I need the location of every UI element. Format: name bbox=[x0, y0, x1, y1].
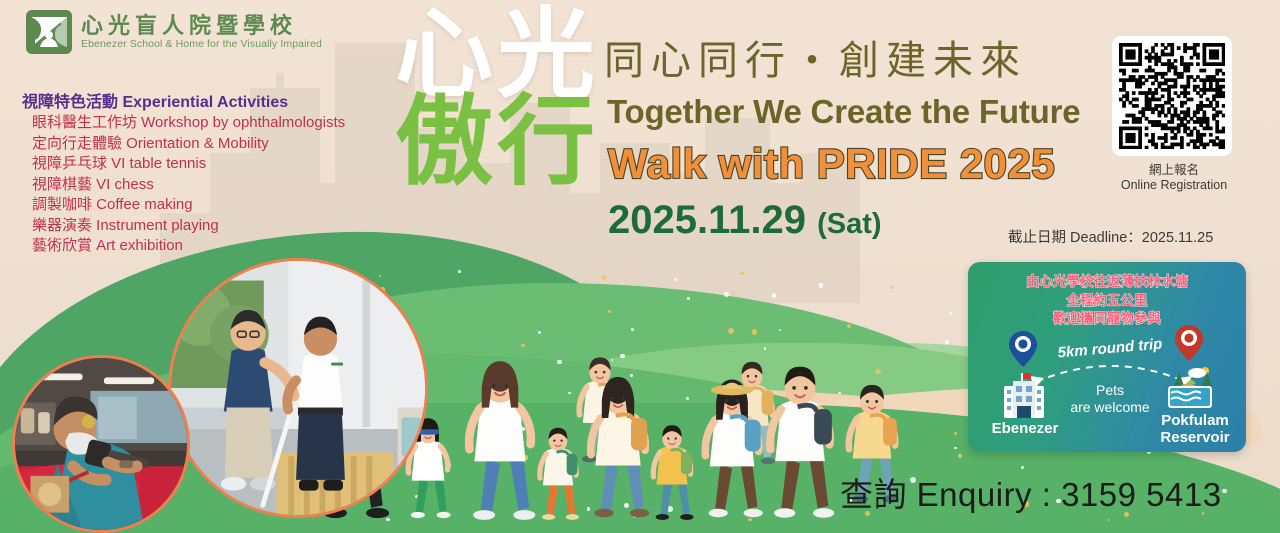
photo-art-craft-workshop bbox=[12, 355, 190, 533]
activity-item: 眼科醫生工作坊 Workshop by ophthalmologists bbox=[32, 113, 345, 134]
org-name-cn: 心光盲人院暨學校 bbox=[81, 14, 322, 37]
qr-code-icon[interactable] bbox=[1112, 36, 1232, 156]
qr-caption-cn: 網上報名 bbox=[1104, 163, 1244, 178]
activities-heading: 視障特色活動 Experiential Activities bbox=[22, 88, 288, 112]
poster-banner: 心光盲人院暨學校 Ebenezer School & Home for the … bbox=[0, 0, 1280, 533]
activity-item: 定向行走體驗 Orientation & Mobility bbox=[32, 134, 345, 155]
route-desc-line2: 全程約五公里 bbox=[968, 292, 1246, 311]
activities-list: 眼科醫生工作坊 Workshop by ophthalmologists定向行走… bbox=[32, 113, 345, 257]
slogan-cn: 同心同行・創建未來 bbox=[604, 28, 1027, 86]
poster-title-cn: 心光 傲行 bbox=[392, 8, 602, 188]
activity-item: 視障棋藝 VI chess bbox=[32, 175, 345, 196]
registration-deadline: 截止日期 Deadline：2025.11.25 bbox=[1008, 226, 1213, 247]
activities-heading-en: Experiential Activities bbox=[122, 94, 288, 111]
event-date: 2025.11.29 (Sat) bbox=[608, 198, 882, 243]
activities-heading-cn: 視障特色活動 bbox=[22, 94, 118, 111]
school-building-icon bbox=[998, 372, 1050, 418]
event-date-value: 2025.11.29 bbox=[608, 198, 806, 242]
organization-logo: 心光盲人院暨學校 Ebenezer School & Home for the … bbox=[26, 10, 322, 54]
event-day: (Sat) bbox=[817, 208, 881, 240]
activity-item: 調製咖啡 Coffee making bbox=[32, 195, 345, 216]
slogan-en: Together We Create the Future bbox=[607, 93, 1080, 131]
reservoir-icon bbox=[1164, 364, 1216, 410]
route-description: 由心光學校往返薄扶林水塘 全程約五公里 歡迎攜同寵物參與 bbox=[968, 273, 1246, 329]
route-end-line2: Reservoir bbox=[1146, 429, 1244, 446]
route-info-card: 由心光學校往返薄扶林水塘 全程約五公里 歡迎攜同寵物參與 5km round t… bbox=[968, 262, 1246, 452]
route-desc-line1: 由心光學校往返薄扶林水塘 bbox=[968, 273, 1246, 292]
event-name: Walk with PRIDE 2025 bbox=[608, 140, 1055, 188]
qr-caption-en: Online Registration bbox=[1104, 178, 1244, 193]
route-end-line1: Pokfulam bbox=[1146, 412, 1244, 429]
route-end-label: Pokfulam Reservoir bbox=[1146, 412, 1244, 446]
route-desc-line3: 歡迎攜同寵物參與 bbox=[968, 310, 1246, 329]
photo-orientation-mobility bbox=[168, 258, 428, 518]
activity-item: 藝術欣賞 Art exhibition bbox=[32, 236, 345, 257]
activity-item: 視障乒乓球 VI table tennis bbox=[32, 154, 345, 175]
route-start-label: Ebenezer bbox=[976, 420, 1074, 437]
qr-caption: 網上報名 Online Registration bbox=[1104, 163, 1244, 193]
activity-item: 樂器演奏 Instrument playing bbox=[32, 216, 345, 237]
pets-line1: Pets bbox=[1046, 382, 1174, 399]
enquiry-text: 查詢 Enquiry : 3159 5413 bbox=[840, 468, 1222, 516]
title-cn-line2: 傲行 bbox=[392, 95, 602, 188]
two-faces-logo-icon bbox=[26, 10, 72, 54]
pets-welcome-note: Pets are welcome bbox=[1046, 382, 1174, 416]
org-name-en: Ebenezer School & Home for the Visually … bbox=[81, 38, 322, 50]
